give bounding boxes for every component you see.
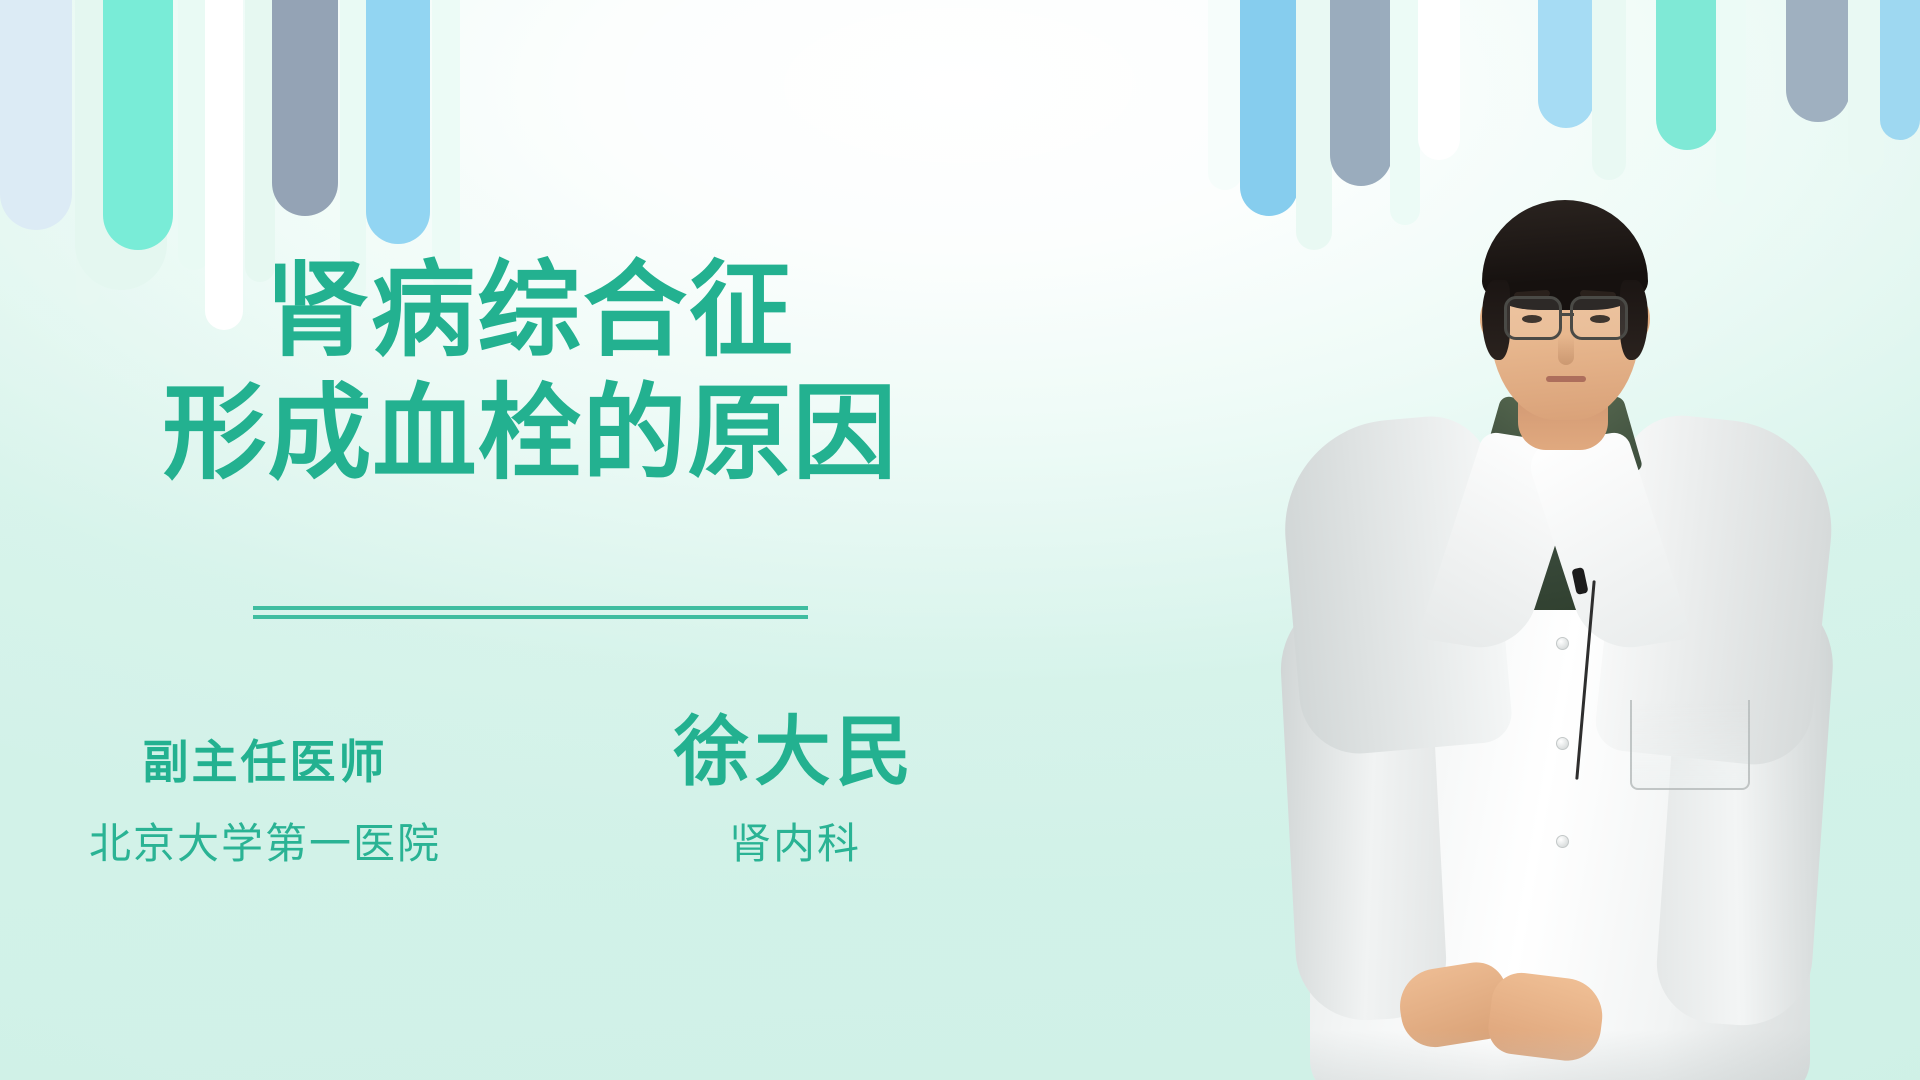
department-name: 肾内科 — [729, 820, 861, 867]
glasses-left-lens — [1504, 296, 1562, 340]
doctor-photo — [1160, 80, 1920, 1080]
hospital-slot: 北京大学第一医院 — [0, 810, 530, 871]
doctor-credit-row: 副主任医师 徐大民 — [0, 690, 1060, 800]
divider — [253, 606, 808, 619]
doctor-rank-slot: 副主任医师 — [0, 726, 530, 792]
divider-rule-bottom — [253, 615, 808, 619]
coat-button-middle — [1556, 737, 1569, 750]
glasses-bridge — [1560, 313, 1574, 316]
title-line-2: 形成血栓的原因 — [0, 373, 1060, 496]
page-title: 肾病综合征 形成血栓的原因 — [0, 250, 1060, 495]
hospital-name: 北京大学第一医院 — [89, 820, 441, 867]
glasses-right-lens — [1570, 296, 1628, 340]
divider-rule-top — [253, 606, 808, 610]
coat-button-bottom — [1556, 835, 1569, 848]
nose — [1558, 335, 1574, 365]
doctor-name-slot: 徐大民 — [530, 690, 1060, 800]
affiliation-row: 北京大学第一医院 肾内科 — [0, 810, 1060, 871]
mouth — [1546, 376, 1586, 382]
doctor-name: 徐大民 — [674, 710, 917, 795]
lab-coat-pocket — [1630, 700, 1750, 790]
department-slot: 肾内科 — [530, 810, 1060, 871]
doctor-rank: 副主任医师 — [143, 736, 388, 788]
coat-button-top — [1556, 637, 1569, 650]
title-card: 肾病综合征 形成血栓的原因 副主任医师 徐大民 北京大学第一医院 肾内科 — [0, 0, 1920, 1080]
text-column: 肾病综合征 形成血栓的原因 副主任医师 徐大民 北京大学第一医院 肾内科 — [0, 0, 1060, 1080]
title-line-1: 肾病综合征 — [0, 250, 1060, 373]
lab-coat-hem — [1310, 1030, 1810, 1080]
